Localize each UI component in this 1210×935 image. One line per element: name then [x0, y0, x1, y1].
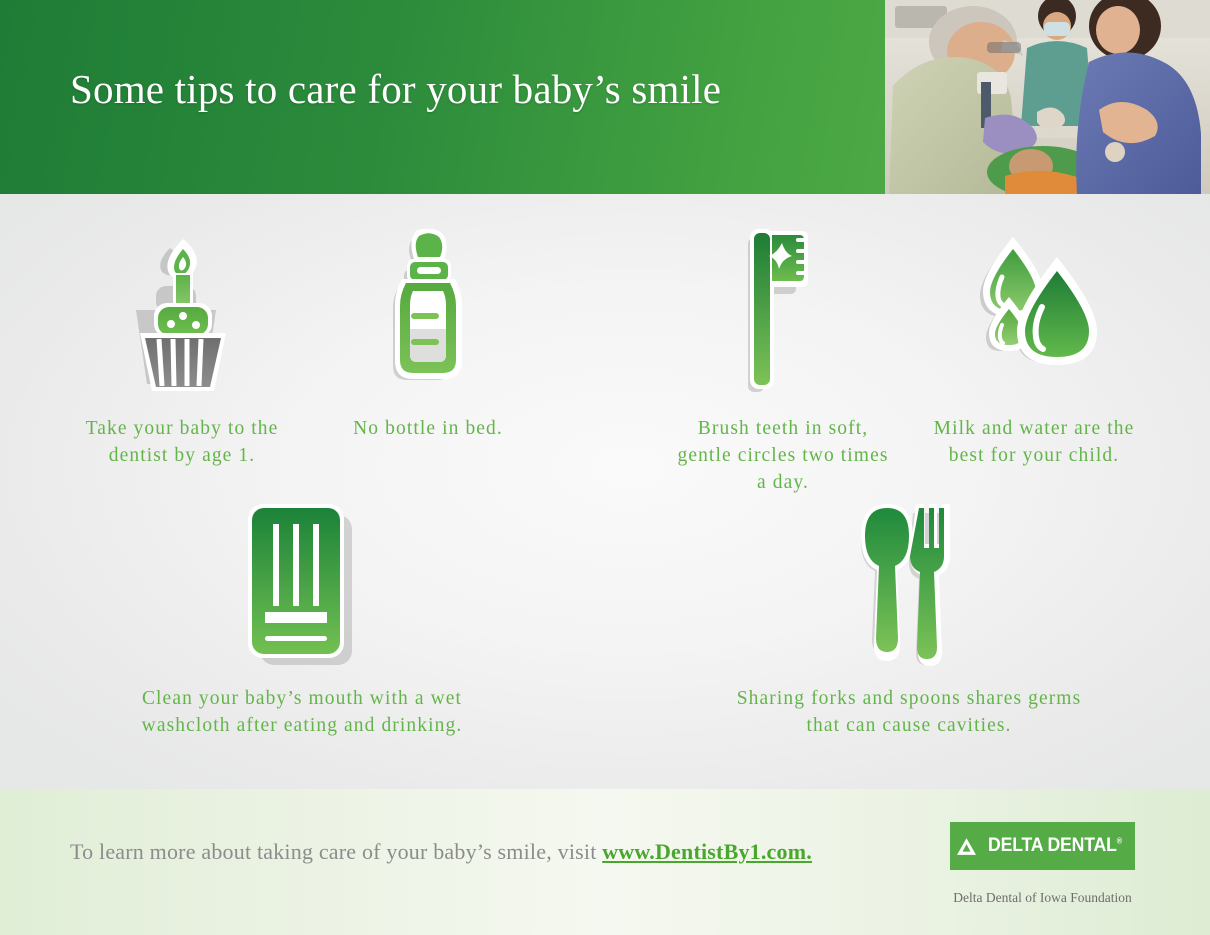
tip-caption: Take your baby to the dentist by age 1. [62, 415, 302, 469]
tip-caption: Sharing forks and spoons shares germs th… [726, 685, 1092, 739]
logo-trademark: ® [1117, 837, 1122, 846]
dentistby1-link[interactable]: www.DentistBy1.com. [602, 839, 812, 864]
learn-more-line: To learn more about taking care of your … [70, 839, 812, 865]
tip-card-dentist-by-age-1: Take your baby to the dentist by age 1. [62, 224, 302, 469]
tip-caption: Milk and water are the best for your chi… [916, 415, 1152, 469]
tips-area: Take your baby to the dentist by age 1. [0, 194, 1210, 789]
foundation-name: Delta Dental of Iowa Foundation [950, 890, 1135, 906]
page-title: Some tips to care for your baby’s smile [70, 66, 721, 113]
tip-card-no-bottle-in-bed: No bottle in bed. [330, 224, 526, 442]
washcloth-icon [112, 504, 492, 669]
header-banner: Some tips to care for your baby’s smile [0, 0, 1210, 194]
baby-bottle-icon [330, 224, 526, 399]
logo-name-text: DELTA DENTAL [989, 835, 1118, 856]
tip-card-brush-teeth: Brush teeth in soft, gentle circles two … [676, 224, 890, 496]
infographic-poster: Some tips to care for your baby’s smile [0, 0, 1210, 935]
delta-dental-wordmark: DELTA DENTAL® [989, 835, 1123, 857]
water-droplets-icon [916, 224, 1152, 399]
tip-card-milk-and-water: Milk and water are the best for your chi… [916, 224, 1152, 469]
toothbrush-icon [676, 224, 890, 399]
tip-card-sharing-utensils: Sharing forks and spoons shares germs th… [726, 504, 1092, 739]
delta-triangle-icon [957, 838, 976, 855]
tip-caption: No bottle in bed. [330, 415, 526, 442]
dentist-examining-baby-photo [885, 0, 1210, 194]
fork-and-spoon-icon [726, 504, 1092, 669]
tip-caption: Clean your baby’s mouth with a wet washc… [112, 685, 492, 739]
learn-more-text: To learn more about taking care of your … [70, 839, 602, 864]
birthday-cupcake-icon [62, 224, 302, 399]
delta-dental-logo[interactable]: DELTA DENTAL® [950, 822, 1135, 870]
tip-caption: Brush teeth in soft, gentle circles two … [676, 415, 890, 496]
tip-card-clean-with-washcloth: Clean your baby’s mouth with a wet washc… [112, 504, 492, 739]
